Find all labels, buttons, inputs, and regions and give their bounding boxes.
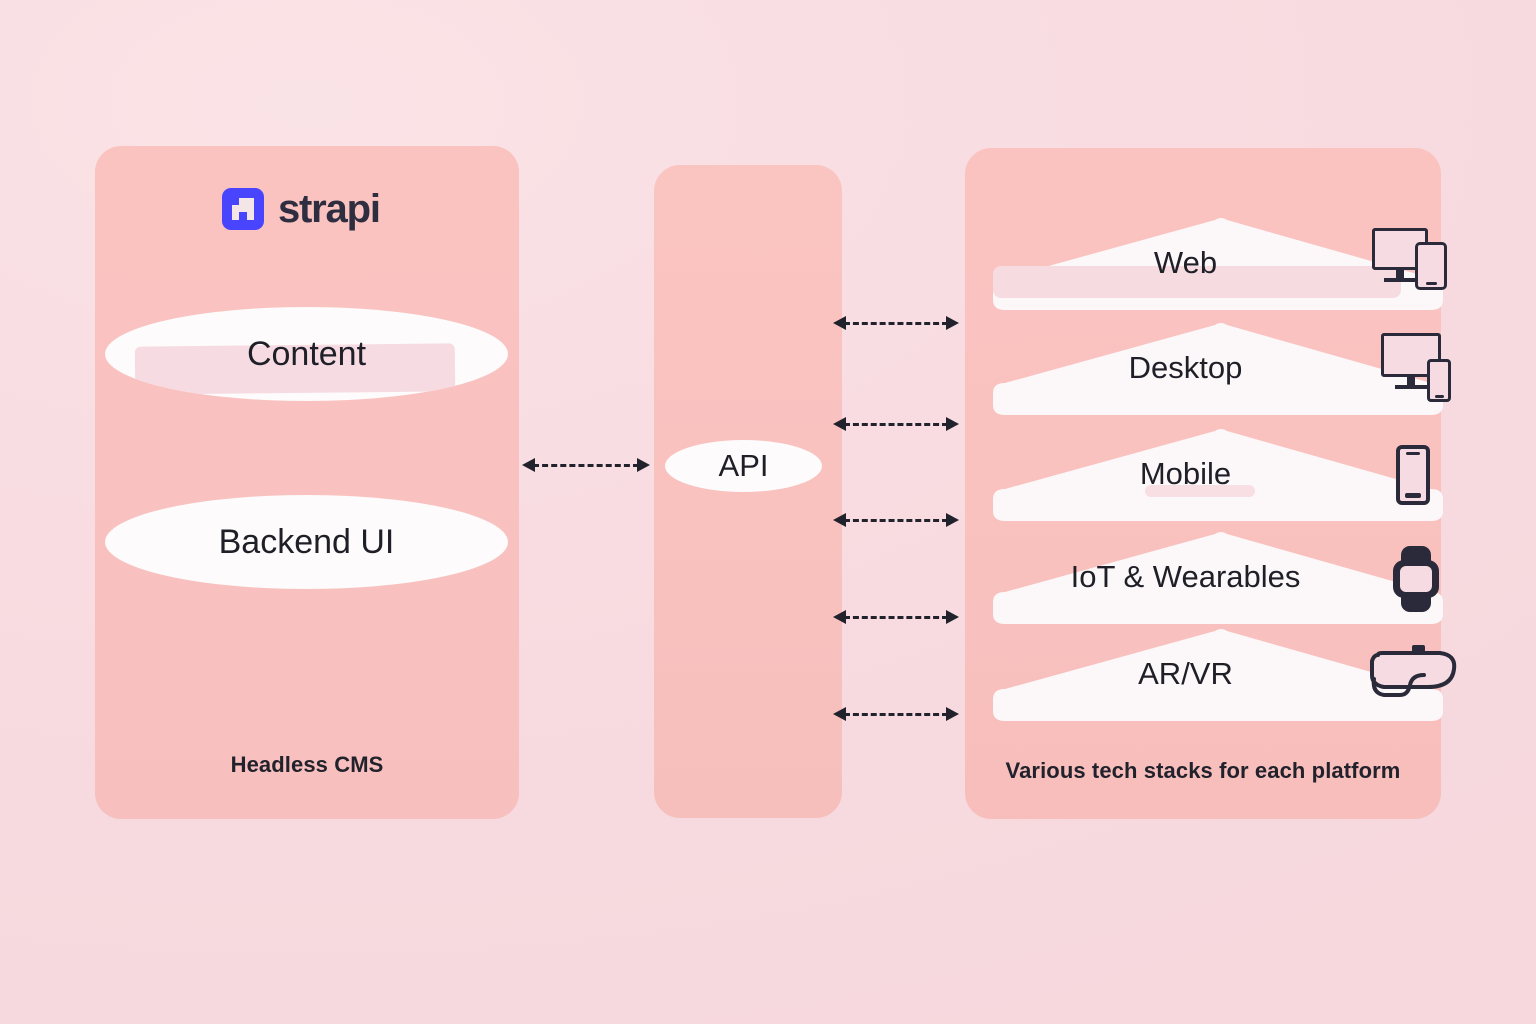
node-api-label: API — [719, 448, 769, 484]
arrow-api-to-desktop — [833, 414, 959, 434]
arrow-cms-to-api — [522, 455, 650, 475]
arrow-api-to-iot — [833, 607, 959, 627]
platform-row-web[interactable]: Web — [993, 214, 1443, 312]
diagram-canvas: strapi Content Backend UI Headless CMS A… — [0, 0, 1536, 1024]
platform-label-mobile: Mobile — [993, 425, 1378, 523]
node-content[interactable]: Content — [105, 307, 508, 401]
node-backend-ui[interactable]: Backend UI — [105, 495, 508, 589]
platforms-caption: Various tech stacks for each platform — [965, 758, 1441, 784]
node-backend-ui-label: Backend UI — [219, 523, 395, 562]
strapi-logo-icon — [222, 188, 264, 230]
vr-headset-icon — [1366, 641, 1462, 703]
platform-label-desktop: Desktop — [993, 319, 1378, 417]
platform-row-desktop[interactable]: Desktop — [993, 319, 1443, 417]
platform-label-arvr: AR/VR — [993, 625, 1378, 723]
strapi-wordmark: strapi — [278, 189, 380, 229]
platform-row-arvr[interactable]: AR/VR — [993, 625, 1443, 723]
headless-cms-panel — [95, 146, 519, 819]
node-api[interactable]: API — [665, 440, 822, 492]
arrow-api-to-mobile — [833, 510, 959, 530]
monitor-phone-icon — [1381, 333, 1471, 408]
node-content-label: Content — [247, 335, 366, 374]
headless-cms-caption: Headless CMS — [95, 752, 519, 778]
monitor-tablet-icon — [1372, 224, 1462, 299]
arrow-api-to-web — [833, 313, 959, 333]
platform-label-iot: IoT & Wearables — [993, 528, 1378, 626]
phone-icon — [1396, 445, 1442, 507]
arrow-api-to-arvr — [833, 704, 959, 724]
strapi-logo: strapi — [222, 188, 380, 230]
smartwatch-icon — [1393, 546, 1449, 616]
platform-label-web: Web — [993, 214, 1378, 312]
platform-row-iot[interactable]: IoT & Wearables — [993, 528, 1443, 626]
platform-row-mobile[interactable]: Mobile — [993, 425, 1443, 523]
